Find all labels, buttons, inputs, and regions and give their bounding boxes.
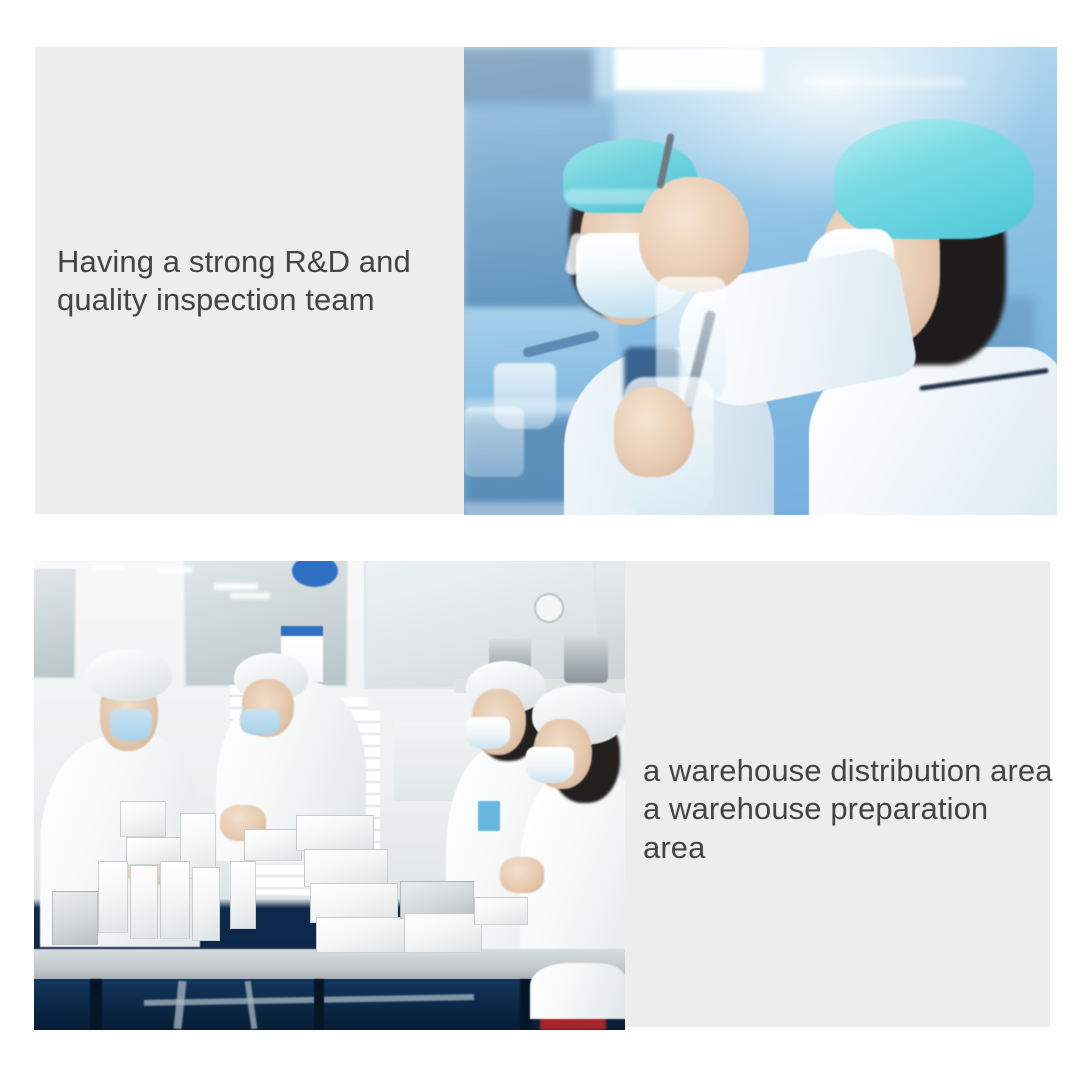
wall-clock bbox=[534, 593, 564, 623]
carton-f bbox=[160, 861, 190, 939]
worker-center-face-mask bbox=[466, 717, 510, 749]
ceiling-light-1 bbox=[159, 567, 193, 573]
wall-window-left bbox=[34, 569, 76, 679]
banner-stage: Having a strong R&D and quality inspecti… bbox=[0, 0, 1080, 1080]
carton-p bbox=[404, 913, 482, 953]
carton-i bbox=[230, 861, 256, 929]
worker-right-lower-coat bbox=[530, 963, 625, 1019]
warehouse-caption: a warehouse distribution area a warehous… bbox=[643, 752, 1053, 867]
lab-ceiling-shadow bbox=[464, 47, 594, 105]
worker-left-hairnet bbox=[86, 649, 172, 701]
table-leg-1 bbox=[90, 979, 102, 1030]
carton-q bbox=[474, 897, 528, 925]
carton-k bbox=[296, 815, 374, 851]
carton-d bbox=[98, 861, 128, 933]
lab-ceiling-beam bbox=[804, 77, 964, 87]
ceiling-light-2 bbox=[94, 565, 124, 570]
warehouse-packing-photo bbox=[34, 561, 625, 1030]
worker-right-face-mask bbox=[526, 747, 574, 783]
carton-a bbox=[120, 801, 166, 837]
lab-worker-b-second-hand bbox=[614, 387, 694, 477]
lab-sample-container bbox=[464, 407, 524, 477]
lab-quality-inspection-photo bbox=[464, 47, 1057, 515]
table-leg-2 bbox=[314, 979, 324, 1030]
lab-worker-b-hairnet bbox=[834, 119, 1034, 239]
carton-l bbox=[304, 849, 388, 887]
window-light-strip-1 bbox=[214, 583, 258, 590]
worker-bending-face-mask bbox=[240, 709, 280, 735]
carton-n bbox=[316, 917, 408, 953]
carton-h bbox=[52, 891, 98, 945]
carton-e bbox=[130, 865, 158, 939]
window-light-strip-2 bbox=[230, 593, 270, 599]
rnd-caption: Having a strong R&D and quality inspecti… bbox=[57, 243, 457, 320]
blue-label-chip bbox=[478, 801, 500, 831]
lab-worker-b-hand bbox=[639, 177, 749, 292]
worker-left-face-mask bbox=[110, 709, 152, 741]
lab-ceiling-light bbox=[614, 47, 764, 91]
carton-j bbox=[244, 829, 302, 861]
worker-right-hand bbox=[500, 857, 544, 893]
steel-pot-2 bbox=[564, 635, 608, 683]
carton-g bbox=[192, 867, 220, 941]
